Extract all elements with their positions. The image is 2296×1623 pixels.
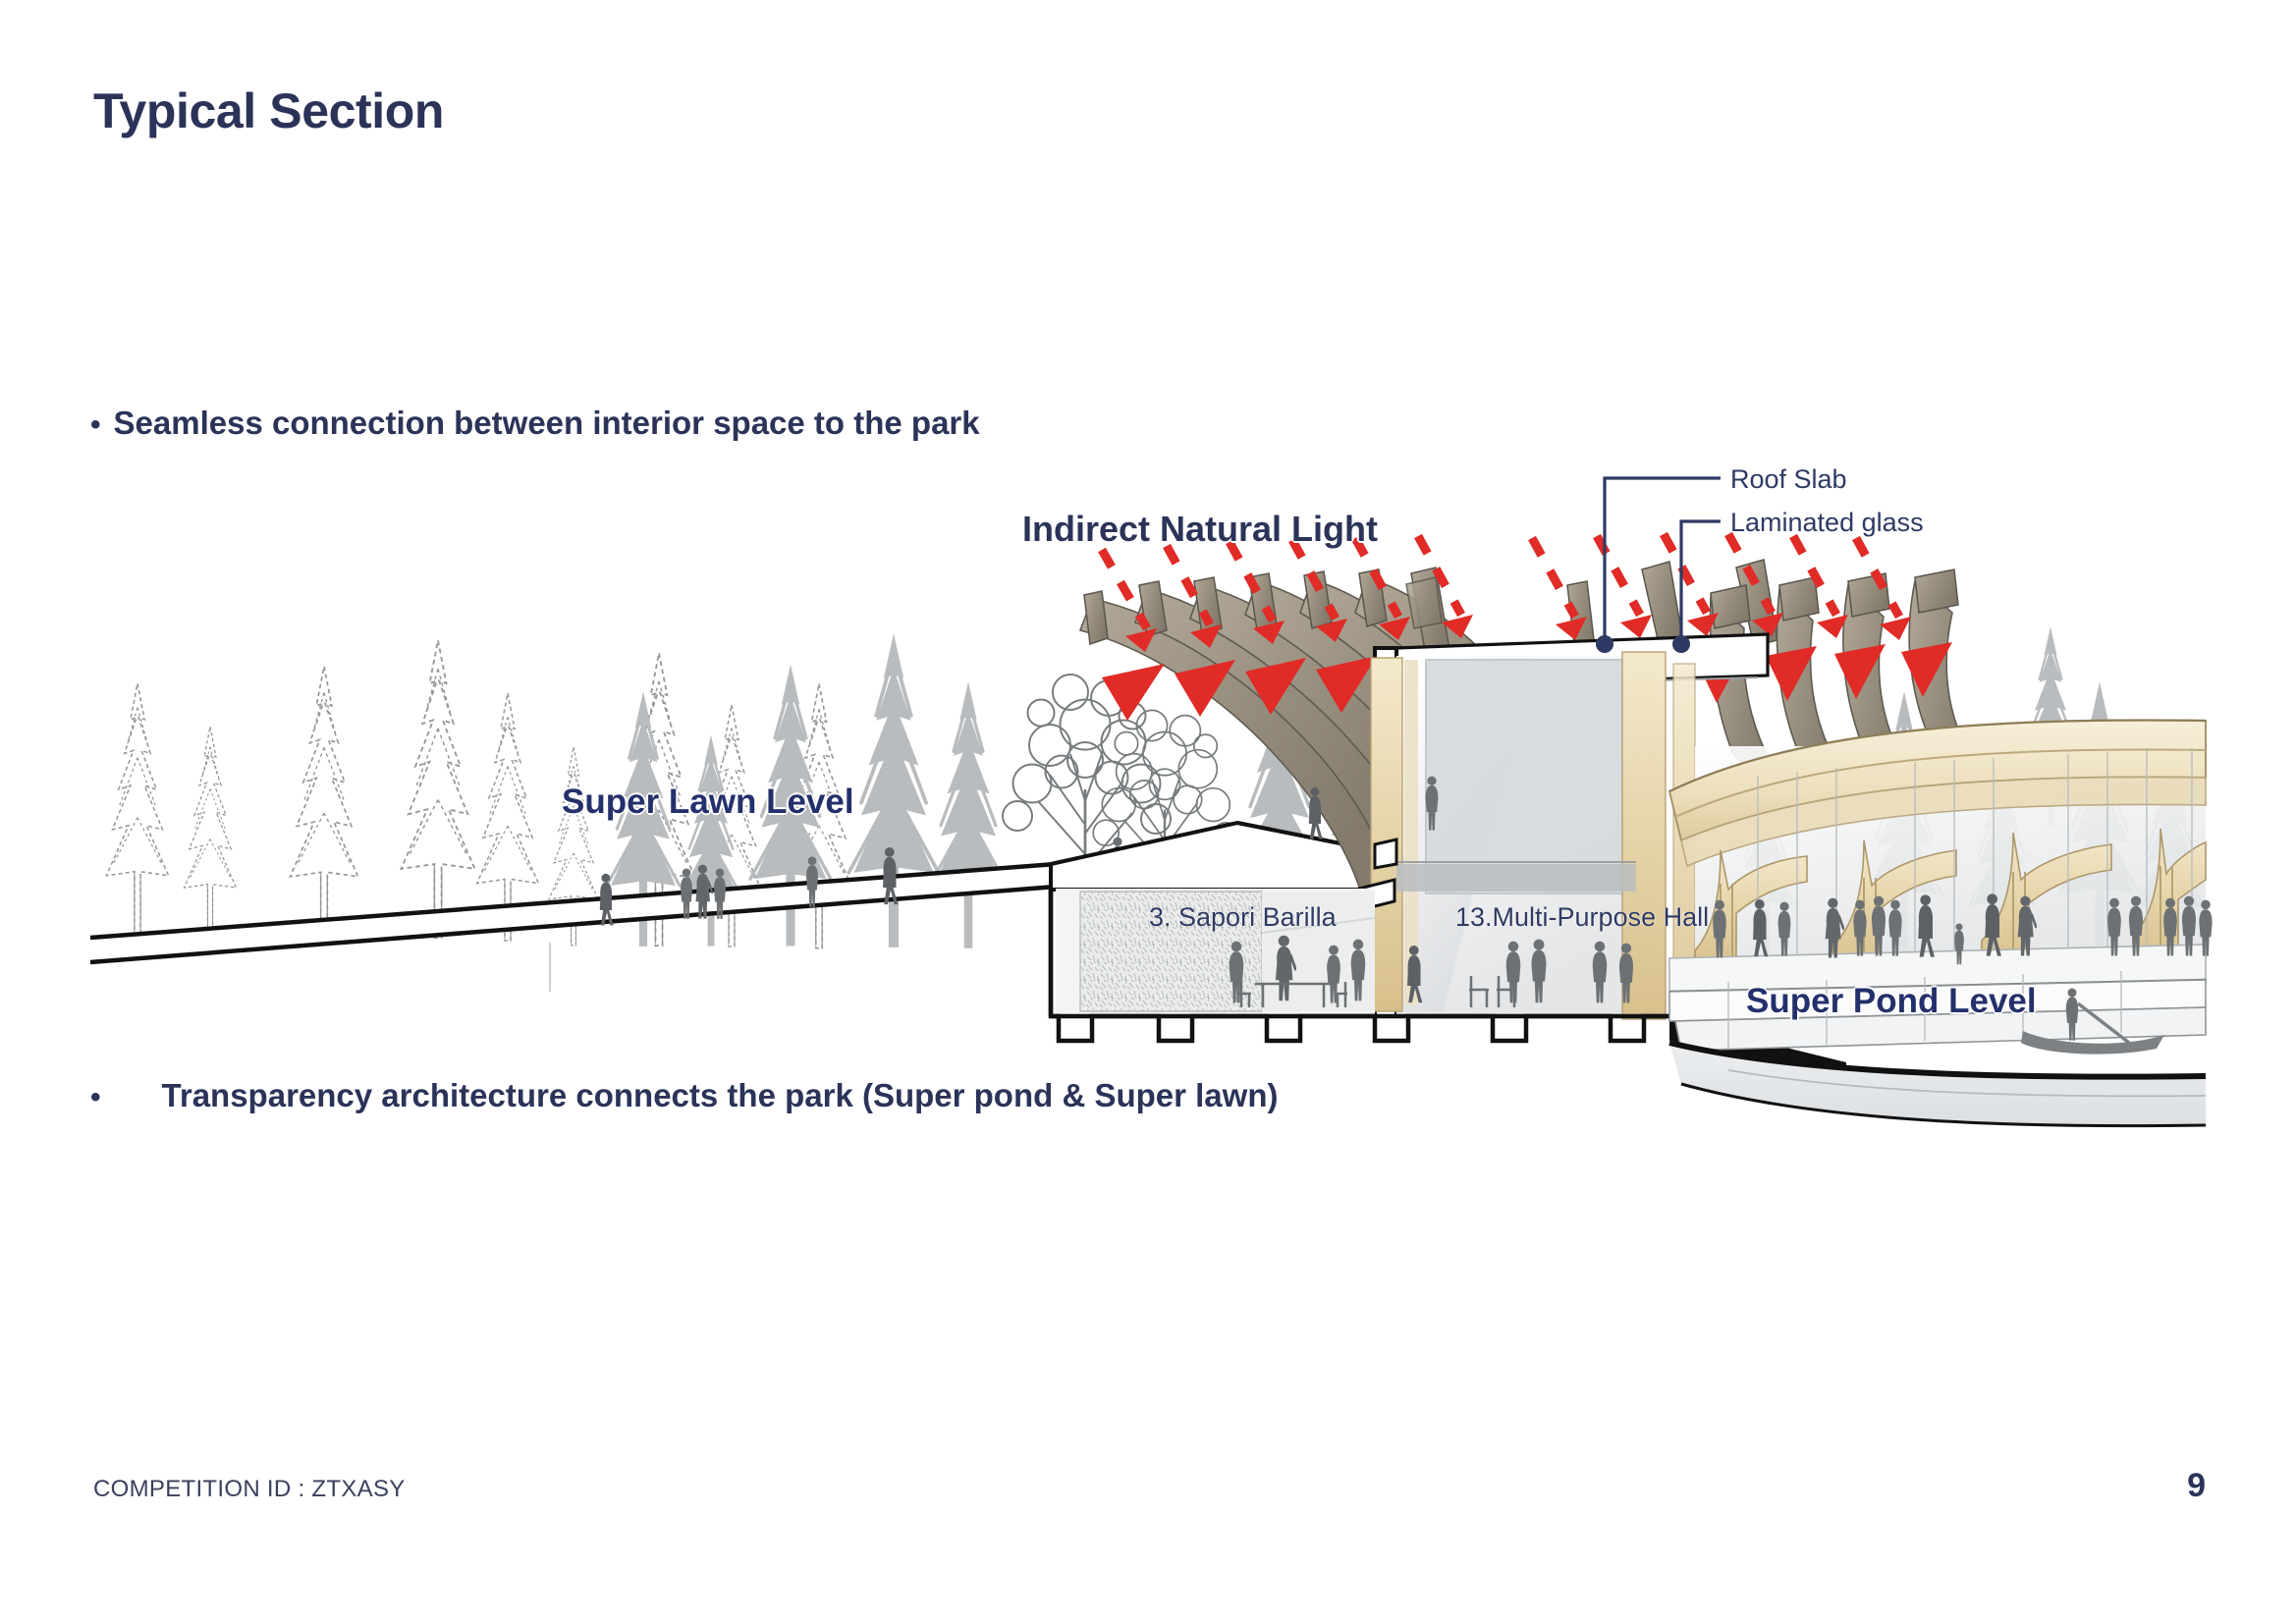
- room-label-multi-purpose-hall: 13.Multi-Purpose Hall: [1455, 902, 1709, 933]
- slide-canvas: Typical Section • Seamless connection be…: [0, 0, 2296, 1623]
- pavilion-colonnade: [1669, 720, 2206, 968]
- label-super-lawn-level: Super Lawn Level: [562, 783, 854, 822]
- annotation-indirect-natural-light: Indirect Natural Light: [1022, 509, 1378, 550]
- page-title: Typical Section: [93, 82, 444, 139]
- bullet-item-1: • Seamless connection between interior s…: [90, 405, 980, 442]
- page-number: 9: [2187, 1467, 2206, 1505]
- bullet-text: Seamless connection between interior spa…: [114, 405, 980, 442]
- bullet-marker: •: [90, 410, 101, 440]
- room-label-sapori-barilla: 3. Sapori Barilla: [1149, 902, 1337, 933]
- footer-competition-id: COMPETITION ID : ZTXASY: [93, 1476, 406, 1503]
- typical-section-drawing: [0, 0, 2296, 1623]
- bullet-text: Transparency architecture connects the p…: [162, 1077, 1279, 1114]
- bullet-marker: •: [90, 1083, 101, 1112]
- callout-label-laminated-glass: Laminated glass: [1730, 508, 1924, 538]
- callout-label-roof-slab: Roof Slab: [1730, 464, 1847, 495]
- super-lawn-ground: [90, 864, 1056, 992]
- label-super-pond-level: Super Pond Level: [1746, 982, 2037, 1021]
- bullet-item-2: • Transparency architecture connects the…: [90, 1077, 1278, 1114]
